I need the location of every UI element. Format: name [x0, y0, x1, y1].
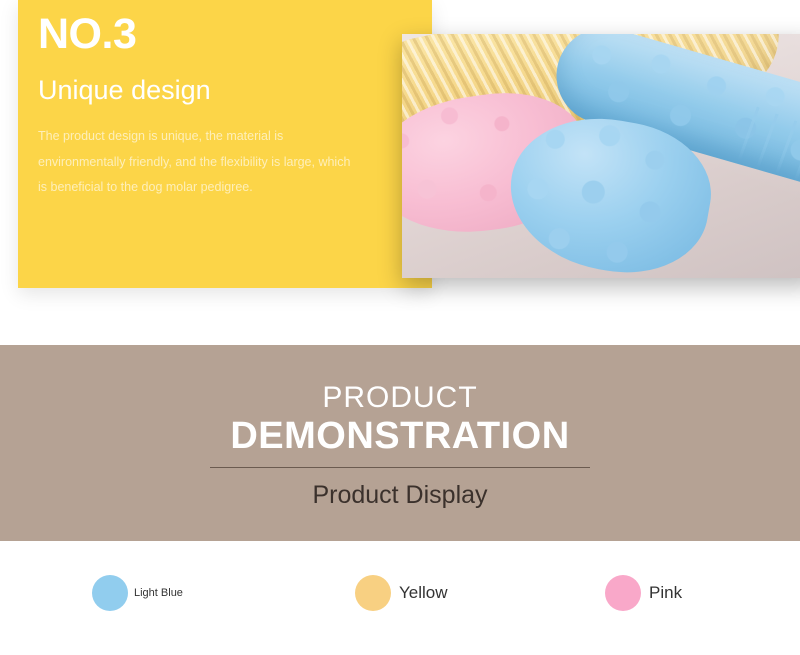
- feature-number: NO.3: [38, 12, 136, 57]
- color-dot-icon-pink: [605, 575, 641, 611]
- swatch-label-yellow: Yellow: [399, 583, 448, 603]
- feature-panel: NO.3 Unique design The product design is…: [18, 0, 432, 288]
- feature-description: The product design is unique, the materi…: [38, 124, 358, 201]
- swatch-item-light-blue[interactable]: Light Blue: [92, 575, 183, 611]
- feature-section: NO.3 Unique design The product design is…: [0, 0, 800, 345]
- demonstration-caption: Product Display: [0, 480, 800, 510]
- demonstration-heading-group: PRODUCT DEMONSTRATION Product Display: [0, 381, 800, 510]
- swatch-item-yellow[interactable]: Yellow: [355, 575, 448, 611]
- feature-subtitle: Unique design: [38, 74, 211, 106]
- demonstration-kicker: PRODUCT: [0, 381, 800, 414]
- demonstration-divider: [210, 467, 590, 468]
- product-demonstration-banner: PRODUCT DEMONSTRATION Product Display: [0, 345, 800, 541]
- product-photo: [402, 34, 800, 278]
- color-dot-icon-light-blue: [92, 575, 128, 611]
- swatch-item-pink[interactable]: Pink: [605, 575, 682, 611]
- demonstration-title: DEMONSTRATION: [0, 416, 800, 457]
- color-swatch-row: Light Blue Yellow Pink: [0, 541, 800, 655]
- swatch-label-pink: Pink: [649, 583, 682, 603]
- photo-background: [402, 34, 800, 278]
- color-dot-icon-yellow: [355, 575, 391, 611]
- swatch-label-light-blue: Light Blue: [134, 587, 183, 599]
